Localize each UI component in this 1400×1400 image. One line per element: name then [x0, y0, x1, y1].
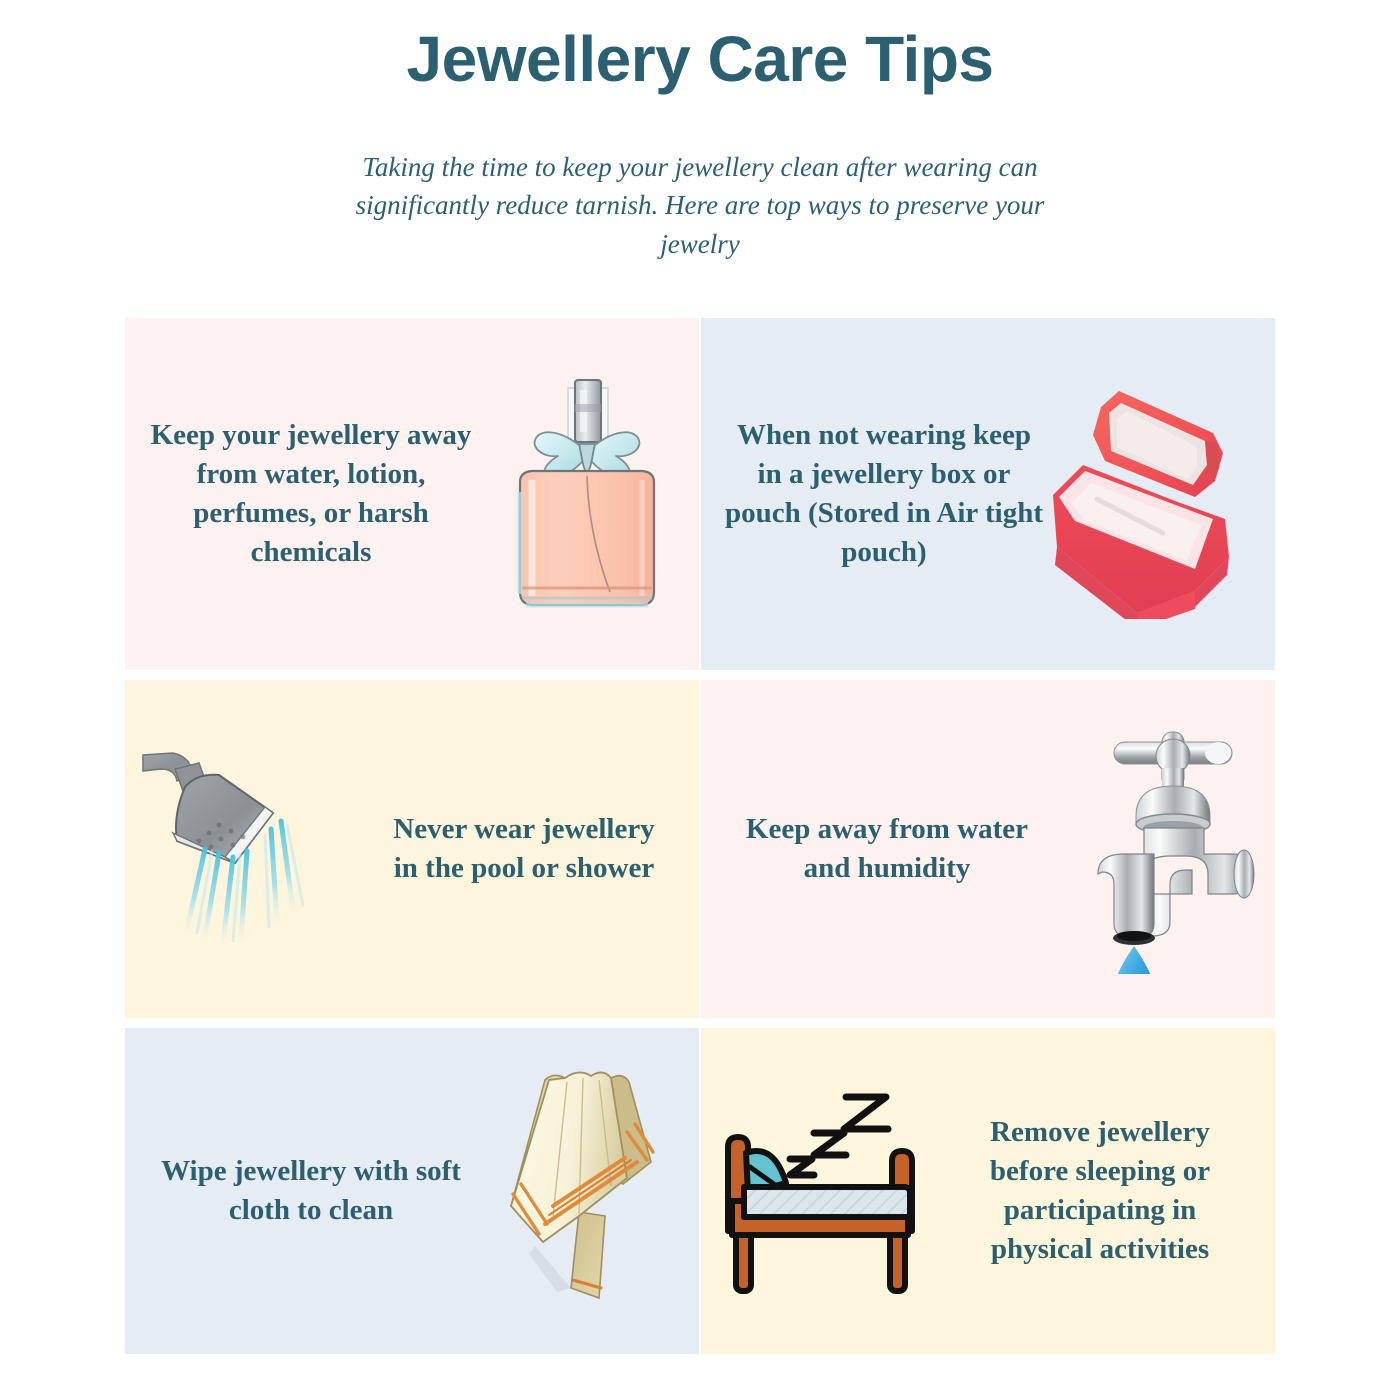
tip-card-text: Keep your jewellery away from water, lot… — [125, 416, 475, 571]
tip-card-text: Remove jewellery before sleeping or part… — [955, 1113, 1275, 1268]
cloth-icon — [475, 1028, 699, 1354]
tips-grid: Keep your jewellery away from water, lot… — [125, 318, 1275, 1356]
tip-card-wipe-with-cloth: Wipe jewellery with soft cloth to clean — [125, 1028, 699, 1354]
page-subtitle: Taking the time to keep your jewellery c… — [350, 148, 1050, 263]
tip-card-no-pool-or-shower: Never wear jewellery in the pool or show… — [125, 680, 699, 1018]
ring-box-icon — [1045, 318, 1275, 670]
shower-head-icon — [125, 680, 379, 1018]
tip-card-text: Keep away from water and humidity — [701, 810, 1051, 888]
infographic-page: Jewellery Care Tips Taking the time to k… — [0, 0, 1400, 1400]
tip-card-remove-before-sleep: Remove jewellery before sleeping or part… — [701, 1028, 1275, 1354]
tip-card-text: Wipe jewellery with soft cloth to clean — [125, 1152, 475, 1230]
faucet-icon — [1051, 680, 1275, 1018]
tip-card-away-from-humidity: Keep away from water and humidity — [701, 680, 1275, 1018]
bed-zzz-icon — [701, 1028, 955, 1354]
tip-card-away-from-chemicals: Keep your jewellery away from water, lot… — [125, 318, 699, 670]
tip-card-text: When not wearing keep in a jewellery box… — [701, 416, 1045, 571]
tip-card-store-in-box: When not wearing keep in a jewellery box… — [701, 318, 1275, 670]
page-title: Jewellery Care Tips — [0, 24, 1400, 94]
perfume-bottle-icon — [475, 318, 699, 670]
tip-card-text: Never wear jewellery in the pool or show… — [379, 810, 699, 888]
